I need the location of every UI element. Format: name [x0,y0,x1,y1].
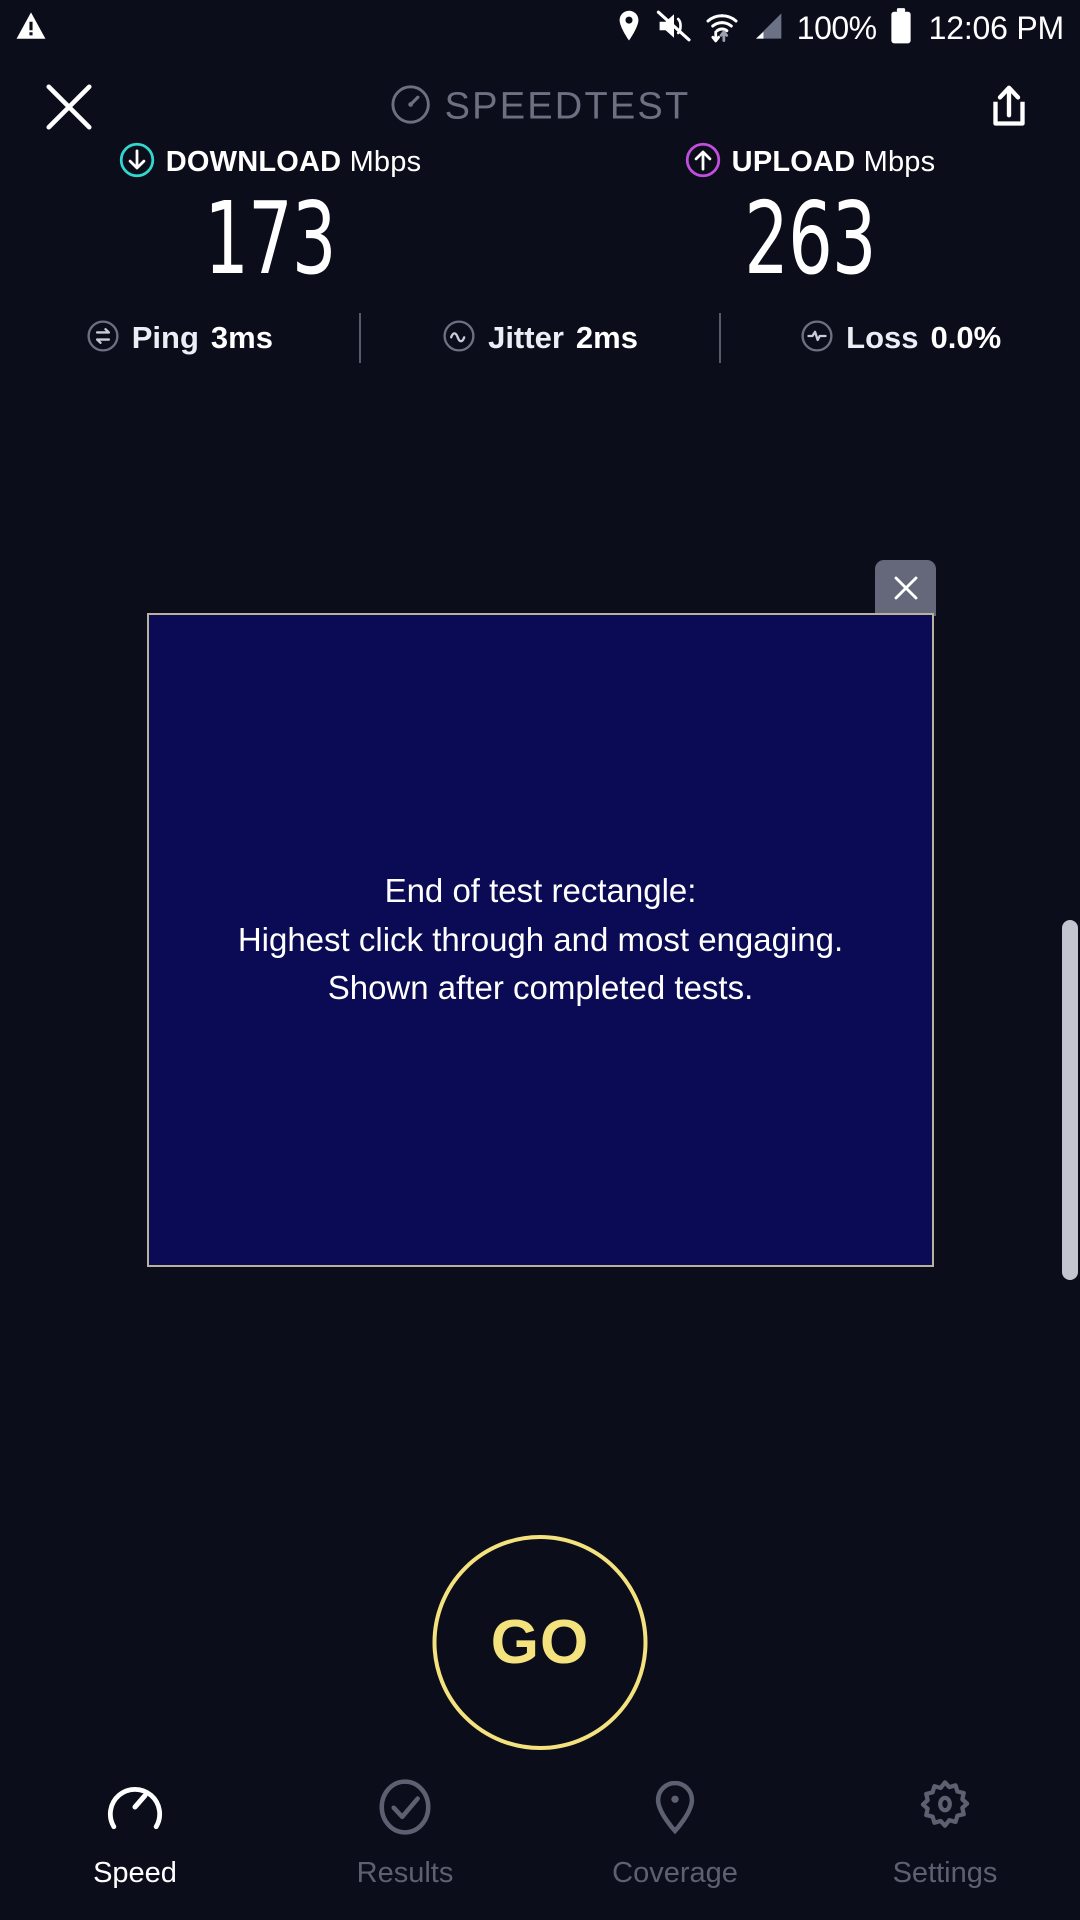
download-value: 173 [59,188,480,290]
map-pin-icon [644,1776,706,1843]
nav-label-coverage: Coverage [612,1857,738,1890]
volume-muted-icon [656,10,692,47]
advertisement-container: End of test rectangle: Highest click thr… [147,613,934,1267]
nav-item-settings[interactable]: Settings [810,1760,1080,1920]
nav-label-results: Results [357,1857,454,1890]
download-arrow-icon [119,142,155,183]
loss-value: 0.0% [931,320,1002,356]
ping-icon [86,319,120,358]
upload-header: UPLOAD Mbps [540,140,1080,184]
ping-value: 3ms [211,320,273,356]
loss-icon [800,319,834,358]
nav-item-speed[interactable]: Speed [0,1760,270,1920]
jitter-label: Jitter [488,320,564,356]
metric-jitter: Jitter 2ms [361,319,720,358]
download-header: DOWNLOAD Mbps [0,140,540,184]
results-panel: DOWNLOAD Mbps 173 UPLOAD Mbps 263 [0,140,1080,368]
upload-label: UPLOAD Mbps [732,146,936,179]
gear-icon [914,1776,976,1843]
ping-label: Ping [132,320,199,356]
upload-arrow-icon [685,142,721,183]
check-circle-icon [374,1776,436,1843]
jitter-value: 2ms [576,320,638,356]
metrics-row: Ping 3ms Jitter 2ms [0,308,1080,368]
nav-item-results[interactable]: Results [270,1760,540,1920]
upload-result: UPLOAD Mbps 263 [540,140,1080,290]
cellular-signal-icon [752,11,784,46]
nav-label-speed: Speed [93,1857,177,1890]
ad-close-button[interactable] [875,560,936,616]
location-pin-icon [615,9,643,48]
advertisement-text: End of test rectangle: Highest click thr… [228,867,853,1013]
speed-row: DOWNLOAD Mbps 173 UPLOAD Mbps 263 [0,140,1080,290]
speedometer-icon [390,84,432,131]
battery-percent: 100% [797,12,877,44]
brand-title: SPEEDTEST [445,86,691,129]
go-button-label: GO [491,1607,589,1678]
brand: SPEEDTEST [390,84,691,131]
app-header: SPEEDTEST [0,62,1080,152]
warning-triangle-icon [14,9,48,48]
share-button[interactable] [980,78,1038,136]
status-bar-clock: 12:06 PM [929,12,1064,44]
metric-ping: Ping 3ms [0,319,359,358]
nav-item-coverage[interactable]: Coverage [540,1760,810,1920]
wifi-transfer-icon [705,9,739,48]
close-icon [42,80,96,134]
status-bar: 100% 12:06 PM [0,0,1080,56]
download-label: DOWNLOAD Mbps [166,146,422,179]
upload-value: 263 [599,188,1020,290]
loss-label: Loss [846,320,918,356]
share-icon [986,83,1032,131]
page-scrollbar[interactable] [1062,920,1078,1280]
speedometer-icon [104,1776,166,1843]
metric-loss: Loss 0.0% [721,319,1080,358]
go-button[interactable]: GO [433,1535,648,1750]
bottom-navigation: Speed Results Coverage [0,1760,1080,1920]
nav-label-settings: Settings [893,1857,998,1890]
speedtest-app-screen: 100% 12:06 PM [0,0,1080,1920]
jitter-icon [442,319,476,358]
download-result: DOWNLOAD Mbps 173 [0,140,540,290]
close-button[interactable] [38,76,100,138]
status-bar-left [14,9,48,48]
battery-full-icon [890,8,912,49]
status-bar-right: 100% 12:06 PM [615,8,1064,49]
advertisement-banner[interactable]: End of test rectangle: Highest click thr… [147,613,934,1267]
close-icon [891,573,921,603]
